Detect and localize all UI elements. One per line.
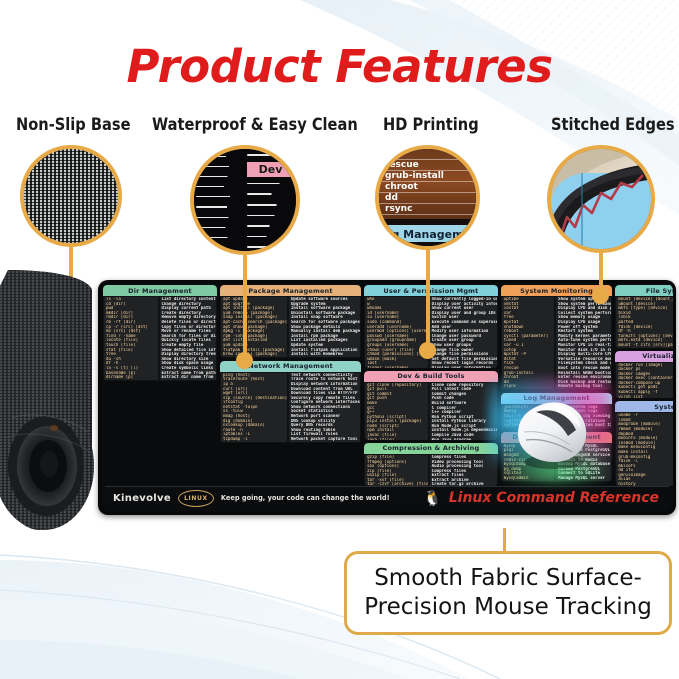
command-name: mount [device] [mount_point] <box>616 297 673 302</box>
hd-row: dd <box>379 193 476 204</box>
command-row: mount -t cifs [srv][path] [mp]Mount SMB … <box>616 343 673 348</box>
command-name: yum update <box>221 343 287 348</box>
command-description: Extract dir name from path <box>160 375 216 380</box>
callout-stem-2 <box>243 253 247 358</box>
hd-row: ck <box>379 149 476 160</box>
command-row: nmap [host]Network port scanner <box>221 414 360 419</box>
command-row: kubectl apply -fDeploy resources <box>616 390 673 395</box>
command-row: yum updateUpdate system <box>221 343 360 348</box>
section-rows: gzip [file]Compress filesffmpeg [options… <box>364 454 498 486</box>
command-description: Network port scanner <box>289 414 360 419</box>
command-row: rmmod [module]Show device UUID <box>616 427 673 432</box>
section-header: Package Management <box>220 285 361 296</box>
section-rows: mount [device] [mount_point]Mount filesy… <box>615 296 673 348</box>
callout-pin-3 <box>419 342 436 359</box>
page-title: Product Features <box>0 40 679 93</box>
feature-label-hd-printing: HD Printing <box>383 115 479 135</box>
print-closeup-icon: Dev <box>194 149 296 251</box>
command-row: apt-cache search [package]Search for sof… <box>221 320 360 325</box>
command-row: virsh listList virtual machines <box>616 395 673 399</box>
command-row: apt updateUpdate software sources <box>221 297 360 302</box>
section-rows: docker run [image]Run Docker containerdo… <box>615 362 673 399</box>
command-description: Create empty file <box>160 343 216 348</box>
command-name: parted <box>616 320 673 325</box>
command-row: sar -u 1Monitor CPU in real-time <box>502 343 612 348</box>
command-description: Execute command as superuser <box>430 320 497 325</box>
caption-line-1: Smooth Fabric Surface- <box>364 564 652 593</box>
command-row: rescueBoot into rescue mode <box>502 366 612 371</box>
section-dev-build-tools: Dev & Build Tools git clone [repository]… <box>364 371 498 440</box>
command-row: partedPartitioning tool <box>616 320 673 325</box>
section-virtualization-management: Virtualization Management docker run [im… <box>615 351 673 399</box>
section-package-management: Package Management apt updateUpdate soft… <box>220 285 361 358</box>
callout-circle-stitched-edges <box>547 145 655 253</box>
command-name: kubectl apply -f <box>616 390 673 395</box>
command-description: Compress files <box>430 455 497 460</box>
command-row: makeBuild software <box>365 401 497 406</box>
command-description: Build software <box>430 401 497 406</box>
command-name: apt-cache search [package] <box>221 320 287 325</box>
command-row: ip aDisplay network information <box>221 382 360 387</box>
command-name: rmmod [module] <box>616 427 673 432</box>
command-name: ip a <box>221 382 287 387</box>
mousepad-title: Linux Command Reference <box>449 490 661 506</box>
callout-pin-4 <box>592 287 609 304</box>
hd-row: rescue <box>379 160 476 171</box>
callout-circle-waterproof: Dev <box>190 145 300 255</box>
section-network-management: Network Management ping [host]Test netwo… <box>220 361 361 443</box>
command-name: java [file] <box>365 438 428 440</box>
penguin-icon: 🐧 <box>423 491 442 506</box>
section-header: System Management <box>615 401 673 412</box>
hd-row: chroot <box>379 182 476 193</box>
command-name: apt update <box>221 297 287 302</box>
callout-circle-non-slip-base <box>20 145 122 247</box>
command-name: javac [file] <box>365 433 428 438</box>
command-description: Display user information <box>430 366 497 368</box>
command-name: finger [username] <box>365 366 428 368</box>
command-description: Monitor CPU in real-time <box>556 343 611 348</box>
command-description: Update system <box>289 343 360 348</box>
section-rows: git clone [repository]Clone code reposit… <box>364 382 498 440</box>
command-name: brew install [package] <box>221 352 287 357</box>
command-row: finger [username]Display user informatio… <box>365 366 497 368</box>
command-description: Compile Java code <box>430 433 497 438</box>
command-row: gzip [file]Compress files <box>365 455 497 460</box>
command-name: who <box>365 297 428 302</box>
command-name: gzip [file] <box>365 455 428 460</box>
command-name: virsh list <box>616 395 673 399</box>
command-description: Show currently logged-in users <box>430 297 497 302</box>
section-header: User & Permission Mgmt <box>364 285 498 296</box>
hd-print-icon: ck rescue grub-install chroot dd rsync o… <box>379 149 476 246</box>
section-header: File System Management <box>615 285 673 296</box>
command-description: Display CPU usage <box>556 320 611 325</box>
mousepad-footer: Kinevolve LINUX Keep going, your code ca… <box>105 486 669 509</box>
command-name: mpstat <box>502 320 554 325</box>
command-description: Create symbolic links <box>160 366 216 371</box>
command-name: sar -u 1 <box>502 343 554 348</box>
command-name: uptime <box>502 297 554 302</box>
command-description: Boot into rescue mode <box>556 366 611 371</box>
dev-band-label: Dev <box>247 162 294 177</box>
command-description: Delete files or directories <box>160 320 216 325</box>
command-name: nmap [host] <box>221 414 287 419</box>
command-row: tcpdump -iNetwork packet capture tool <box>221 437 360 442</box>
brand-slogan: Keep going, your code can change the wor… <box>221 494 390 502</box>
command-description: Network packet capture tool <box>289 437 360 442</box>
feature-label-stitched-edges: Stitched Edges <box>551 115 675 135</box>
linux-badge: LINUX <box>178 490 214 507</box>
section-header: Virtualization Management <box>615 351 673 362</box>
hd-row: rsync <box>379 204 476 215</box>
command-row: mpstatDisplay CPU usage <box>502 320 612 325</box>
command-row: java [file]Run Java program <box>365 438 497 440</box>
command-description: Install with Homebrew <box>289 352 360 357</box>
section-system-management: System Management uname -rMount filesyst… <box>615 401 673 486</box>
feature-label-waterproof: Waterproof & Easy Clean <box>152 115 358 135</box>
command-row: g++C++ compiler <box>365 410 497 415</box>
command-name: g++ <box>365 410 428 415</box>
command-name: wget [url] <box>221 391 287 396</box>
command-row: make installInstall kernel modules <box>616 450 673 455</box>
computer-mouse-image <box>508 392 594 470</box>
section-rows: uname -rMount filesystemlsmodUnmount fil… <box>615 412 673 486</box>
command-row: whoShow currently logged-in users <box>365 297 497 302</box>
stitched-edge-icon <box>551 149 651 249</box>
command-description: Download files via HTTP/FTP <box>289 391 360 396</box>
command-name: make <box>365 401 428 406</box>
section-file-system-management: File System Management mount [device] [m… <box>615 285 673 348</box>
command-description: Show user groups <box>430 343 497 348</box>
command-row: sudo [command]Execute command as superus… <box>365 320 497 325</box>
command-description: C++ compiler <box>430 410 497 415</box>
feature-label-non-slip-base: Non-Slip Base <box>16 115 131 135</box>
grip-texture-icon <box>24 149 118 243</box>
callout-circle-hd-printing: ck rescue grub-install chroot dd rsync o… <box>375 145 480 250</box>
command-description: List directory contents <box>160 297 216 302</box>
rolled-mousepad-image <box>0 268 124 536</box>
command-name: groups [username] <box>365 343 428 348</box>
caption-box: Smooth Fabric Surface- Precision Mouse T… <box>344 551 672 635</box>
command-name: mount -t cifs [srv][path] [mp] <box>616 343 673 348</box>
command-row: mount [device] [mount_point]Mount filesy… <box>616 297 673 302</box>
callout-stem-3 <box>426 248 430 348</box>
command-description: Run Java program <box>430 438 497 440</box>
command-name: make install <box>616 450 673 455</box>
hd-band-label: og Manageme <box>379 225 476 242</box>
caption-line-2: Precision Mouse Tracking <box>364 593 652 622</box>
command-name: rescue <box>502 366 554 371</box>
section-rows: apt updateUpdate software sourcesapt upg… <box>220 296 361 358</box>
callout-pin-2 <box>236 352 253 369</box>
command-name: sudo [command] <box>365 320 428 325</box>
section-rows: ping [host]Test network connectivitytrac… <box>220 372 361 443</box>
section-header: Compression & Archiving <box>364 443 498 454</box>
command-row: javac [file]Compile Java code <box>365 433 497 438</box>
caption-stem <box>503 528 506 553</box>
section-compression-archiving: Compression & Archiving gzip [file]Compr… <box>364 443 498 486</box>
command-description: Display network information <box>289 382 360 387</box>
section-rows: uptimeShow system uptimevmstatShow syste… <box>501 296 613 390</box>
command-row: wget [url]Download files via HTTP/FTP <box>221 391 360 396</box>
hd-row: grub-install <box>379 171 476 182</box>
command-description: Update software sources <box>289 297 360 302</box>
command-name: tcpdump -i <box>221 437 287 442</box>
command-description: Search for software packages <box>289 320 360 325</box>
section-header: Dev & Build Tools <box>364 371 498 382</box>
